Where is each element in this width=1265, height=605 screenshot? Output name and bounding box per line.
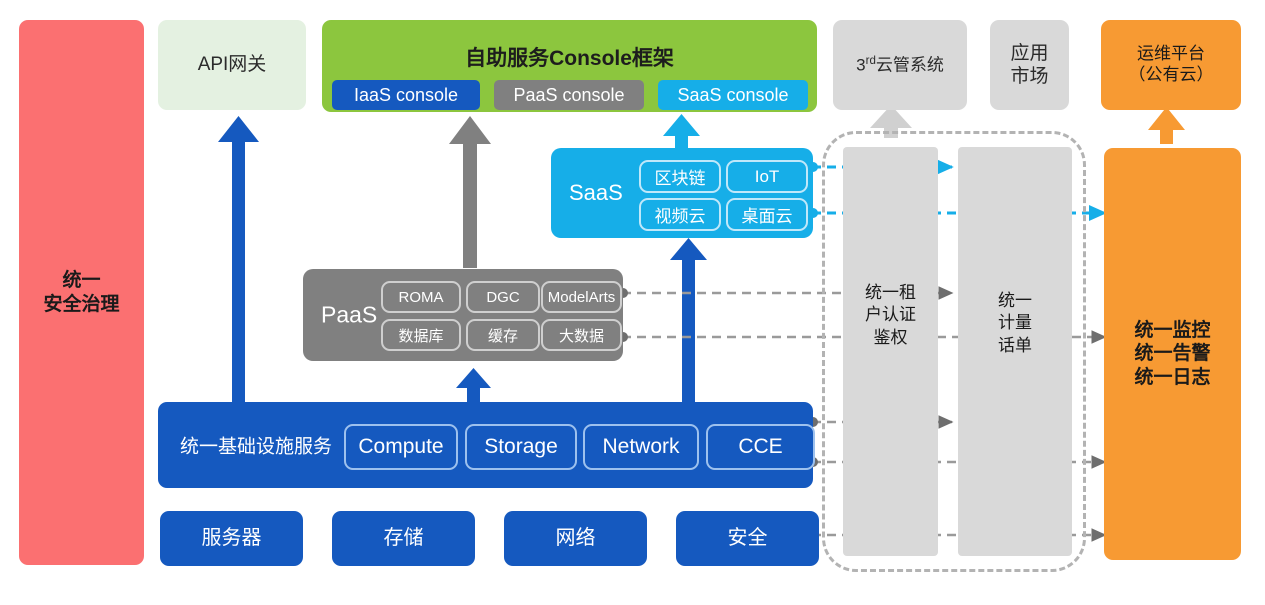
api-gateway-label: API网关 xyxy=(198,53,267,76)
paas-item-roma[interactable]: ROMA xyxy=(381,281,461,313)
infra-item-cce[interactable]: CCE xyxy=(706,424,815,470)
ops-platform-top-card[interactable]: 运维平台 （公有云） xyxy=(1101,20,1241,110)
chip-iaas-console-label: IaaS console xyxy=(354,85,458,106)
metering-line2: 计量 xyxy=(958,312,1072,334)
chip-saas-console-label: SaaS console xyxy=(677,85,788,106)
saas-item-iot-label: IoT xyxy=(755,167,780,187)
hardware-item-network[interactable]: 网络 xyxy=(504,511,647,566)
governance-label-line1: 统一 xyxy=(62,269,100,292)
paas-item-database-label: 数据库 xyxy=(398,325,443,346)
api-gateway-card[interactable]: API网关 xyxy=(158,20,306,110)
metering-line3: 话单 xyxy=(958,335,1072,357)
hardware-item-storage-label: 存储 xyxy=(384,526,424,550)
hardware-item-security-label: 安全 xyxy=(728,526,768,550)
saas-item-blockchain-label: 区块链 xyxy=(655,164,706,189)
ops-side-line1: 统一监控 xyxy=(1134,319,1210,342)
infra-item-cce-label: CCE xyxy=(738,435,782,459)
paas-label: PaaS xyxy=(321,302,377,329)
arrow-infra-to-apigateway xyxy=(218,116,259,402)
infrastructure-label: 统一基础设施服务 xyxy=(180,432,332,459)
third-party-cloud-mgmt-label: 3rd云管系统 xyxy=(856,54,944,76)
saas-card: SaaS 区块链 IoT 视频云 桌面云 xyxy=(551,148,813,238)
auth-column xyxy=(843,147,938,556)
paas-item-cache-label: 缓存 xyxy=(488,325,518,346)
chip-saas-console[interactable]: SaaS console xyxy=(658,80,808,110)
ops-side-line2: 统一告警 xyxy=(1134,342,1210,365)
saas-item-desktop-cloud[interactable]: 桌面云 xyxy=(726,198,808,231)
infra-item-compute-label: Compute xyxy=(358,435,443,459)
arrow-infra-to-saas xyxy=(670,238,707,405)
ops-side-line3: 统一日志 xyxy=(1134,366,1210,389)
paas-item-modelarts-label: ModelArts xyxy=(548,289,616,306)
paas-item-database[interactable]: 数据库 xyxy=(381,319,461,351)
chip-iaas-console[interactable]: IaaS console xyxy=(332,80,480,110)
infra-item-network-label: Network xyxy=(602,435,679,459)
metering-column-text: 统一 计量 话单 xyxy=(958,290,1072,357)
hardware-item-storage[interactable]: 存储 xyxy=(332,511,475,566)
auth-column-text: 统一租 户认证 鉴权 xyxy=(843,282,938,349)
third-party-suffix: 云管系统 xyxy=(876,55,944,74)
console-framework-card: 自助服务Console框架 IaaS console PaaS console … xyxy=(322,20,817,112)
paas-item-bigdata[interactable]: 大数据 xyxy=(541,319,622,351)
saas-item-desktop-cloud-label: 桌面云 xyxy=(742,202,793,227)
auth-line3: 鉴权 xyxy=(843,327,938,349)
hardware-item-server-label: 服务器 xyxy=(202,526,262,550)
governance-label-line2: 安全治理 xyxy=(43,293,119,316)
saas-item-blockchain[interactable]: 区块链 xyxy=(639,160,721,193)
paas-item-bigdata-label: 大数据 xyxy=(559,325,604,346)
auth-line1: 统一租 xyxy=(843,282,938,304)
infra-item-network[interactable]: Network xyxy=(583,424,699,470)
paas-item-modelarts[interactable]: ModelArts xyxy=(541,281,622,313)
paas-item-dgc-label: DGC xyxy=(486,289,519,306)
third-party-prefix: 3 xyxy=(856,55,865,74)
chip-paas-console[interactable]: PaaS console xyxy=(494,80,644,110)
chip-paas-console-label: PaaS console xyxy=(513,85,624,106)
infra-item-storage[interactable]: Storage xyxy=(465,424,577,470)
ops-platform-top-line1: 运维平台 xyxy=(1137,44,1205,65)
paas-item-roma-label: ROMA xyxy=(399,289,444,306)
infra-item-compute[interactable]: Compute xyxy=(344,424,458,470)
ops-platform-column: 统一监控 统一告警 统一日志 xyxy=(1104,148,1241,560)
auth-line2: 户认证 xyxy=(843,304,938,326)
saas-item-video-cloud[interactable]: 视频云 xyxy=(639,198,721,231)
hardware-item-security[interactable]: 安全 xyxy=(676,511,819,566)
saas-item-video-cloud-label: 视频云 xyxy=(655,202,706,227)
ops-platform-top-line2: （公有云） xyxy=(1129,65,1214,86)
arrow-paas-to-console xyxy=(449,116,491,268)
app-market-card[interactable]: 应用 市场 xyxy=(990,20,1069,110)
paas-item-cache[interactable]: 缓存 xyxy=(466,319,540,351)
arrow-to-ops-platform xyxy=(1148,107,1185,144)
app-market-line2: 市场 xyxy=(1010,65,1048,88)
arrow-infra-to-paas xyxy=(456,368,491,405)
infra-item-storage-label: Storage xyxy=(484,435,558,459)
metering-line1: 统一 xyxy=(958,290,1072,312)
paas-item-dgc[interactable]: DGC xyxy=(466,281,540,313)
hardware-item-server[interactable]: 服务器 xyxy=(160,511,303,566)
app-market-line1: 应用 xyxy=(1010,42,1048,65)
hardware-item-network-label: 网络 xyxy=(556,526,596,550)
saas-label: SaaS xyxy=(569,180,623,206)
third-party-cloud-mgmt-card[interactable]: 3rd云管系统 xyxy=(833,20,967,110)
paas-card: PaaS ROMA DGC ModelArts 数据库 缓存 大数据 xyxy=(303,269,623,361)
architecture-diagram: 统一 安全治理 API网关 自助服务Console框架 IaaS console… xyxy=(0,0,1265,605)
saas-item-iot[interactable]: IoT xyxy=(726,160,808,193)
infrastructure-card: 统一基础设施服务 Compute Storage Network CCE xyxy=(158,402,813,488)
third-party-superscript: rd xyxy=(866,55,876,67)
governance-column: 统一 安全治理 xyxy=(19,20,144,565)
console-framework-title: 自助服务Console框架 xyxy=(322,42,817,72)
arrow-saas-to-console xyxy=(663,114,700,151)
